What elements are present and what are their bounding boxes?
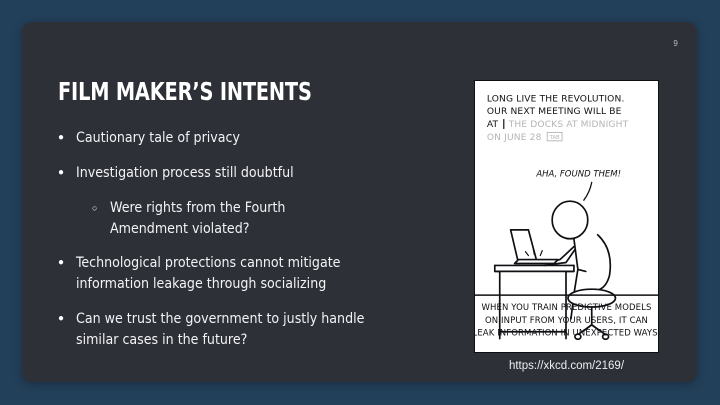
list-item: ● Technological protections cannot mitig… <box>58 253 433 295</box>
bullet-marker-icon: ● <box>58 163 76 183</box>
page-title: FILM MAKER’S INTENTS <box>58 77 312 106</box>
page-number: 9 <box>673 39 678 48</box>
tab-key-label: TAB <box>549 135 560 141</box>
caption-line-2: ON INPUT FROM YOUR USERS, IT CAN <box>485 316 648 326</box>
list-item-label: Investigation process still doubtful <box>76 163 294 184</box>
slide-card: 9 FILM MAKER’S INTENTS ● Cautionary tale… <box>22 22 697 382</box>
list-item-nested: ○ Were rights from the Fourth Amendment … <box>92 198 433 240</box>
bullet-marker-icon: ● <box>58 253 76 273</box>
bullet-marker-icon: ● <box>58 309 76 329</box>
text-cursor <box>503 119 504 129</box>
list-item-label: Cautionary tale of privacy <box>76 128 240 149</box>
figure-head <box>552 201 588 239</box>
list-item: ● Can we trust the government to justly … <box>58 309 433 351</box>
list-item-label: Technological protections cannot mitigat… <box>76 253 384 295</box>
bullet-list: ● Cautionary tale of privacy ● Investiga… <box>58 128 433 365</box>
comic-source-url[interactable]: https://xkcd.com/2169/ <box>474 360 659 372</box>
comic-panel-border: LONG LIVE THE REVOLUTION. OUR NEXT MEETI… <box>474 80 659 353</box>
caption-line-3: LEAK INFORMATION IN UNEXPECTED WAYS. <box>475 329 658 339</box>
list-item-label: Were rights from the Fourth Amendment vi… <box>110 198 314 240</box>
list-item: ● Cautionary tale of privacy <box>58 128 433 149</box>
bullet-marker-icon: ● <box>58 128 76 148</box>
comic-typed-line-2: OUR NEXT MEETING WILL BE <box>487 107 622 117</box>
comic-predicted-line-1: THE DOCKS AT MIDNIGHT <box>508 120 629 130</box>
list-item-label: Can we trust the government to justly ha… <box>76 309 384 351</box>
comic-drawing: LONG LIVE THE REVOLUTION. OUR NEXT MEETI… <box>475 81 658 352</box>
xkcd-comic-image: LONG LIVE THE REVOLUTION. OUR NEXT MEETI… <box>474 80 659 353</box>
list-item: ● Investigation process still doubtful <box>58 163 433 184</box>
bullet-marker-icon: ○ <box>92 198 110 218</box>
comic-typed-line-1: LONG LIVE THE REVOLUTION. <box>487 94 625 104</box>
comic-caption: WHEN YOU TRAIN PREDICTIVE MODELS ON INPU… <box>475 303 658 339</box>
comic-speech-bubble-text: AHA, FOUND THEM! <box>535 169 621 179</box>
slide-backdrop: 9 FILM MAKER’S INTENTS ● Cautionary tale… <box>0 0 720 405</box>
comic-typed-line-3: AT <box>487 120 499 130</box>
comic-predicted-line-2: ON JUNE 28 <box>487 133 542 143</box>
laptop-keyboard <box>515 260 559 264</box>
caption-line-1: WHEN YOU TRAIN PREDICTIVE MODELS <box>482 303 652 313</box>
